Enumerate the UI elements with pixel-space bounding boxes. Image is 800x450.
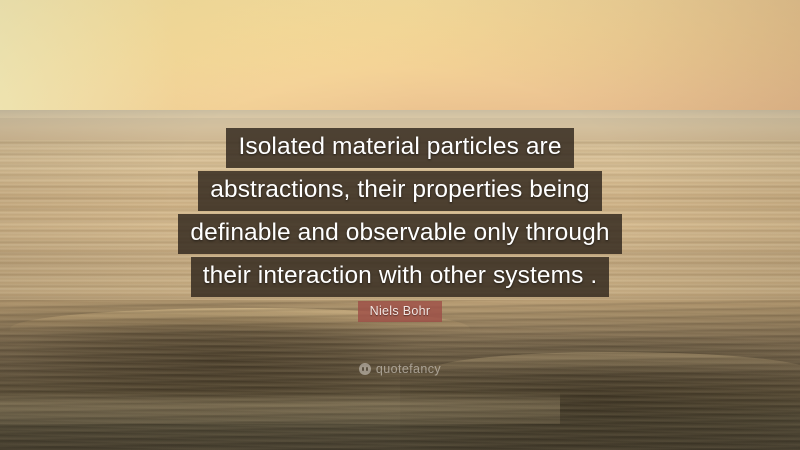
quote-wallpaper: Isolated material particles are abstract… — [0, 0, 800, 450]
quote-badge-icon — [359, 363, 371, 375]
watermark-inner: quotefancy — [359, 363, 441, 376]
watermark: quotefancy — [0, 362, 800, 380]
quote-line-4: their interaction with other systems . — [191, 257, 610, 297]
watermark-label: quotefancy — [376, 363, 441, 376]
quote-line-1: Isolated material particles are — [226, 128, 573, 168]
quote-line-3: definable and observable only through — [178, 214, 621, 254]
quote-text-block: Isolated material particles are abstract… — [0, 128, 800, 300]
author-name: Niels Bohr — [358, 301, 443, 322]
quote-line-2: abstractions, their properties being — [198, 171, 601, 211]
author-attribution: Niels Bohr — [0, 301, 800, 322]
